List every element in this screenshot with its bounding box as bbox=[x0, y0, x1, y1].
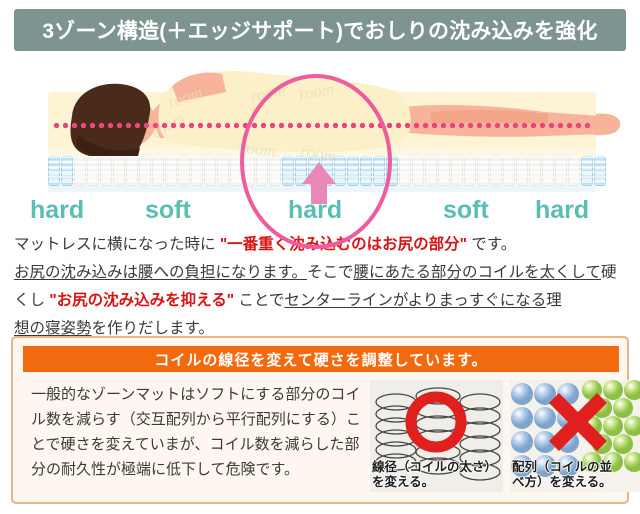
zone-label-soft-right: soft bbox=[443, 196, 489, 225]
body-copy-line2-b: そこで bbox=[307, 264, 354, 281]
figure-caption-left: 線径（コイルの太さ） を変える。 bbox=[372, 460, 497, 490]
panel-body: 一般的なゾーンマットはソフトにする部分のコイ ル数を減らす（交互配列から平行配列… bbox=[23, 378, 619, 498]
coil-wire-diameter-photo: 線径（コイルの太さ） を変える。 bbox=[370, 380, 503, 492]
panel-copy-line: 一般的なゾーンマットはソフトにする部分のコイ bbox=[31, 382, 361, 407]
zone-label-hard-right: hard bbox=[535, 196, 589, 225]
body-copy-line4-b: を作りだします。 bbox=[92, 320, 214, 337]
body-copy-line2-c: 腰にあたる部分のコイルを太くして bbox=[353, 264, 601, 281]
page-title: 3ゾーン構造(＋エッジサポート)でおしりの沈み込みを強化 bbox=[42, 15, 597, 45]
panel-copy-line: 分の耐久性が極端に低下して危険です。 bbox=[31, 457, 361, 482]
figure-caption-right: 配列（コイルの並 べ方）を変える。 bbox=[512, 460, 612, 490]
body-copy-line3-highlight: "お尻の沈み込みを抑える" bbox=[49, 292, 234, 309]
body-copy-line1-pre: マットレスに横になった時に bbox=[14, 236, 216, 253]
figure-caption-left-line1: 線径（コイルの太さ） bbox=[372, 460, 497, 475]
body-copy-line-2: お尻の沈み込みは腰への負担になります。そこで腰にあたる部分のコイルを太くして硬 bbox=[14, 259, 630, 287]
coil-arrangement-photo: 配列（コイルの並 べ方）を変える。 bbox=[510, 380, 640, 492]
panel-header-title: コイルの線径を変えて硬さを調整しています。 bbox=[154, 349, 487, 370]
figure-caption-left-line2: を変える。 bbox=[372, 475, 497, 490]
panel-copy: 一般的なゾーンマットはソフトにする部分のコイ ル数を減らす（交互配列から平行配列… bbox=[31, 382, 361, 482]
panel-copy-line: ル数を減らす（交互配列から平行配列にする）こ bbox=[31, 407, 361, 432]
body-copy-line1-post: です。 bbox=[471, 236, 516, 253]
figure-caption-right-line1: 配列（コイルの並 bbox=[512, 460, 612, 475]
coil-explanation-panel: コイルの線径を変えて硬さを調整しています。 一般的なゾーンマットはソフトにする部… bbox=[11, 336, 629, 504]
body-copy-line3-pre: くし bbox=[14, 292, 45, 309]
panel-copy-line: とで硬さを変えていまが、コイル数を減らした部 bbox=[31, 432, 361, 457]
panel-header-banner: コイルの線径を変えて硬さを調整しています。 bbox=[23, 346, 619, 372]
upward-pressure-arrow-icon bbox=[296, 160, 342, 206]
body-copy-line-3: くし "お尻の沈み込みを抑える" ことでセンターラインがよりまっすぐになる理 bbox=[14, 287, 630, 315]
body-copy-line3-underline: センターラインがよりまっすぐになる bbox=[284, 292, 546, 309]
page-header-banner: 3ゾーン構造(＋エッジサポート)でおしりの沈み込みを強化 bbox=[14, 9, 626, 51]
body-copy-line2-a: お尻の沈み込みは腰への負担になります。 bbox=[14, 264, 307, 281]
body-copy-line4-a: 想の寝姿勢 bbox=[14, 320, 92, 337]
body-copy-line3-post: 理 bbox=[546, 292, 562, 309]
figure-caption-right-line2: べ方）を変える。 bbox=[512, 475, 612, 490]
body-copy-line2-d: 硬 bbox=[601, 264, 617, 281]
zone-label-soft-left: soft bbox=[145, 196, 191, 225]
body-copy-line3-mid: ことで bbox=[238, 292, 284, 309]
watermark-text: room bbox=[165, 83, 204, 112]
zone-label-hard-left: hard bbox=[30, 196, 84, 225]
